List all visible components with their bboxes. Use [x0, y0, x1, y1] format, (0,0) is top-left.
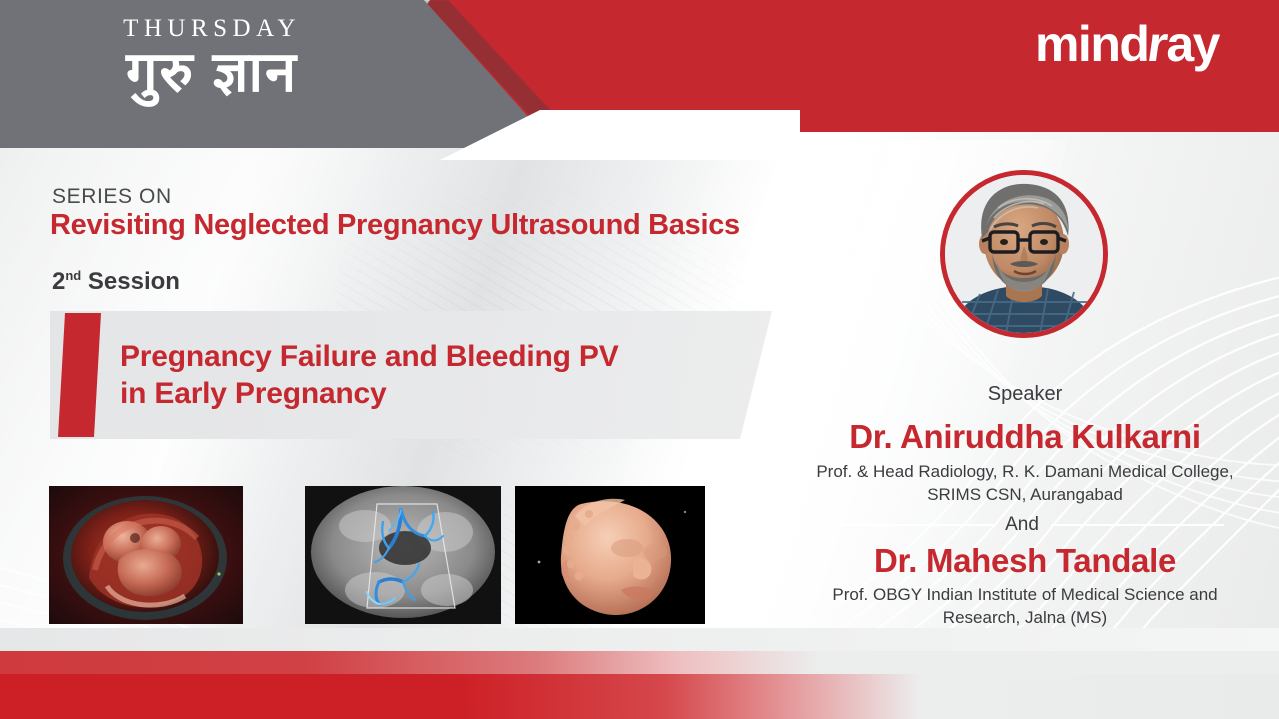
avatar-ring — [940, 170, 1108, 338]
talk-title-line-2: in Early Pregnancy — [120, 375, 730, 412]
avatar-photo — [944, 174, 1104, 334]
speaker-secondary-name: Dr. Mahesh Tandale — [790, 542, 1260, 580]
thumbnail-fetal-face-3d-render — [515, 486, 705, 624]
session-number: 2 — [52, 268, 65, 295]
talk-title: Pregnancy Failure and Bleeding PV in Ear… — [120, 338, 730, 412]
footer-bar-light — [0, 651, 1279, 674]
speakers-conjunction: And — [1005, 514, 1039, 536]
logo-text-part3: ay — [1166, 16, 1219, 72]
poster-header: THURSDAY गुरु ज्ञान mindray — [0, 0, 1279, 150]
thumbnail-strip — [49, 486, 664, 624]
logo-text-part1: mind — [1035, 16, 1148, 72]
program-brand: THURSDAY गुरु ज्ञान — [97, 16, 327, 102]
talk-title-line-1: Pregnancy Failure and Bleeding PV — [120, 338, 730, 375]
speaker-avatar — [940, 170, 1108, 338]
speaker-primary-affiliation-line-1: Prof. & Head Radiology, R. K. Damani Med… — [795, 461, 1255, 484]
session-ordinal-suffix: nd — [65, 268, 81, 283]
divider-rule-left — [820, 524, 993, 526]
session-number-label: 2nd Session — [52, 268, 180, 296]
series-title: Revisiting Neglected Pregnancy Ultrasoun… — [50, 209, 740, 242]
footer-upper-strip — [0, 628, 1279, 651]
speaker-primary-affiliation-line-2: SRIMS CSN, Aurangabad — [795, 484, 1255, 507]
speaker-primary-name: Dr. Aniruddha Kulkarni — [790, 418, 1260, 456]
series-eyebrow-label: SERIES ON — [52, 185, 172, 209]
divider-rule-right — [1051, 524, 1224, 526]
brand-day-label: THURSDAY — [97, 16, 327, 41]
webinar-poster: THURSDAY गुरु ज्ञान mindray SERIES ON Re… — [0, 0, 1279, 719]
footer-bar-dark — [0, 674, 1279, 719]
mindray-logo: mindray — [1035, 19, 1219, 69]
speakers-divider: And — [820, 514, 1224, 536]
speaker-secondary-affiliation-line-1: Prof. OBGY Indian Institute of Medical S… — [795, 584, 1255, 607]
thumbnail-doppler-ultrasound-scan — [305, 486, 501, 624]
brand-hindi-title: गुरु ज्ञान — [97, 43, 327, 102]
thumbnail-fetus-3d-illustration — [49, 486, 243, 624]
session-word: Session — [88, 268, 180, 295]
speaker-role-label: Speaker — [790, 383, 1260, 406]
speaker-secondary-affiliation: Prof. OBGY Indian Institute of Medical S… — [795, 584, 1255, 629]
speaker-secondary-affiliation-line-2: Research, Jalna (MS) — [795, 607, 1255, 630]
speaker-primary-affiliation: Prof. & Head Radiology, R. K. Damani Med… — [795, 461, 1255, 506]
